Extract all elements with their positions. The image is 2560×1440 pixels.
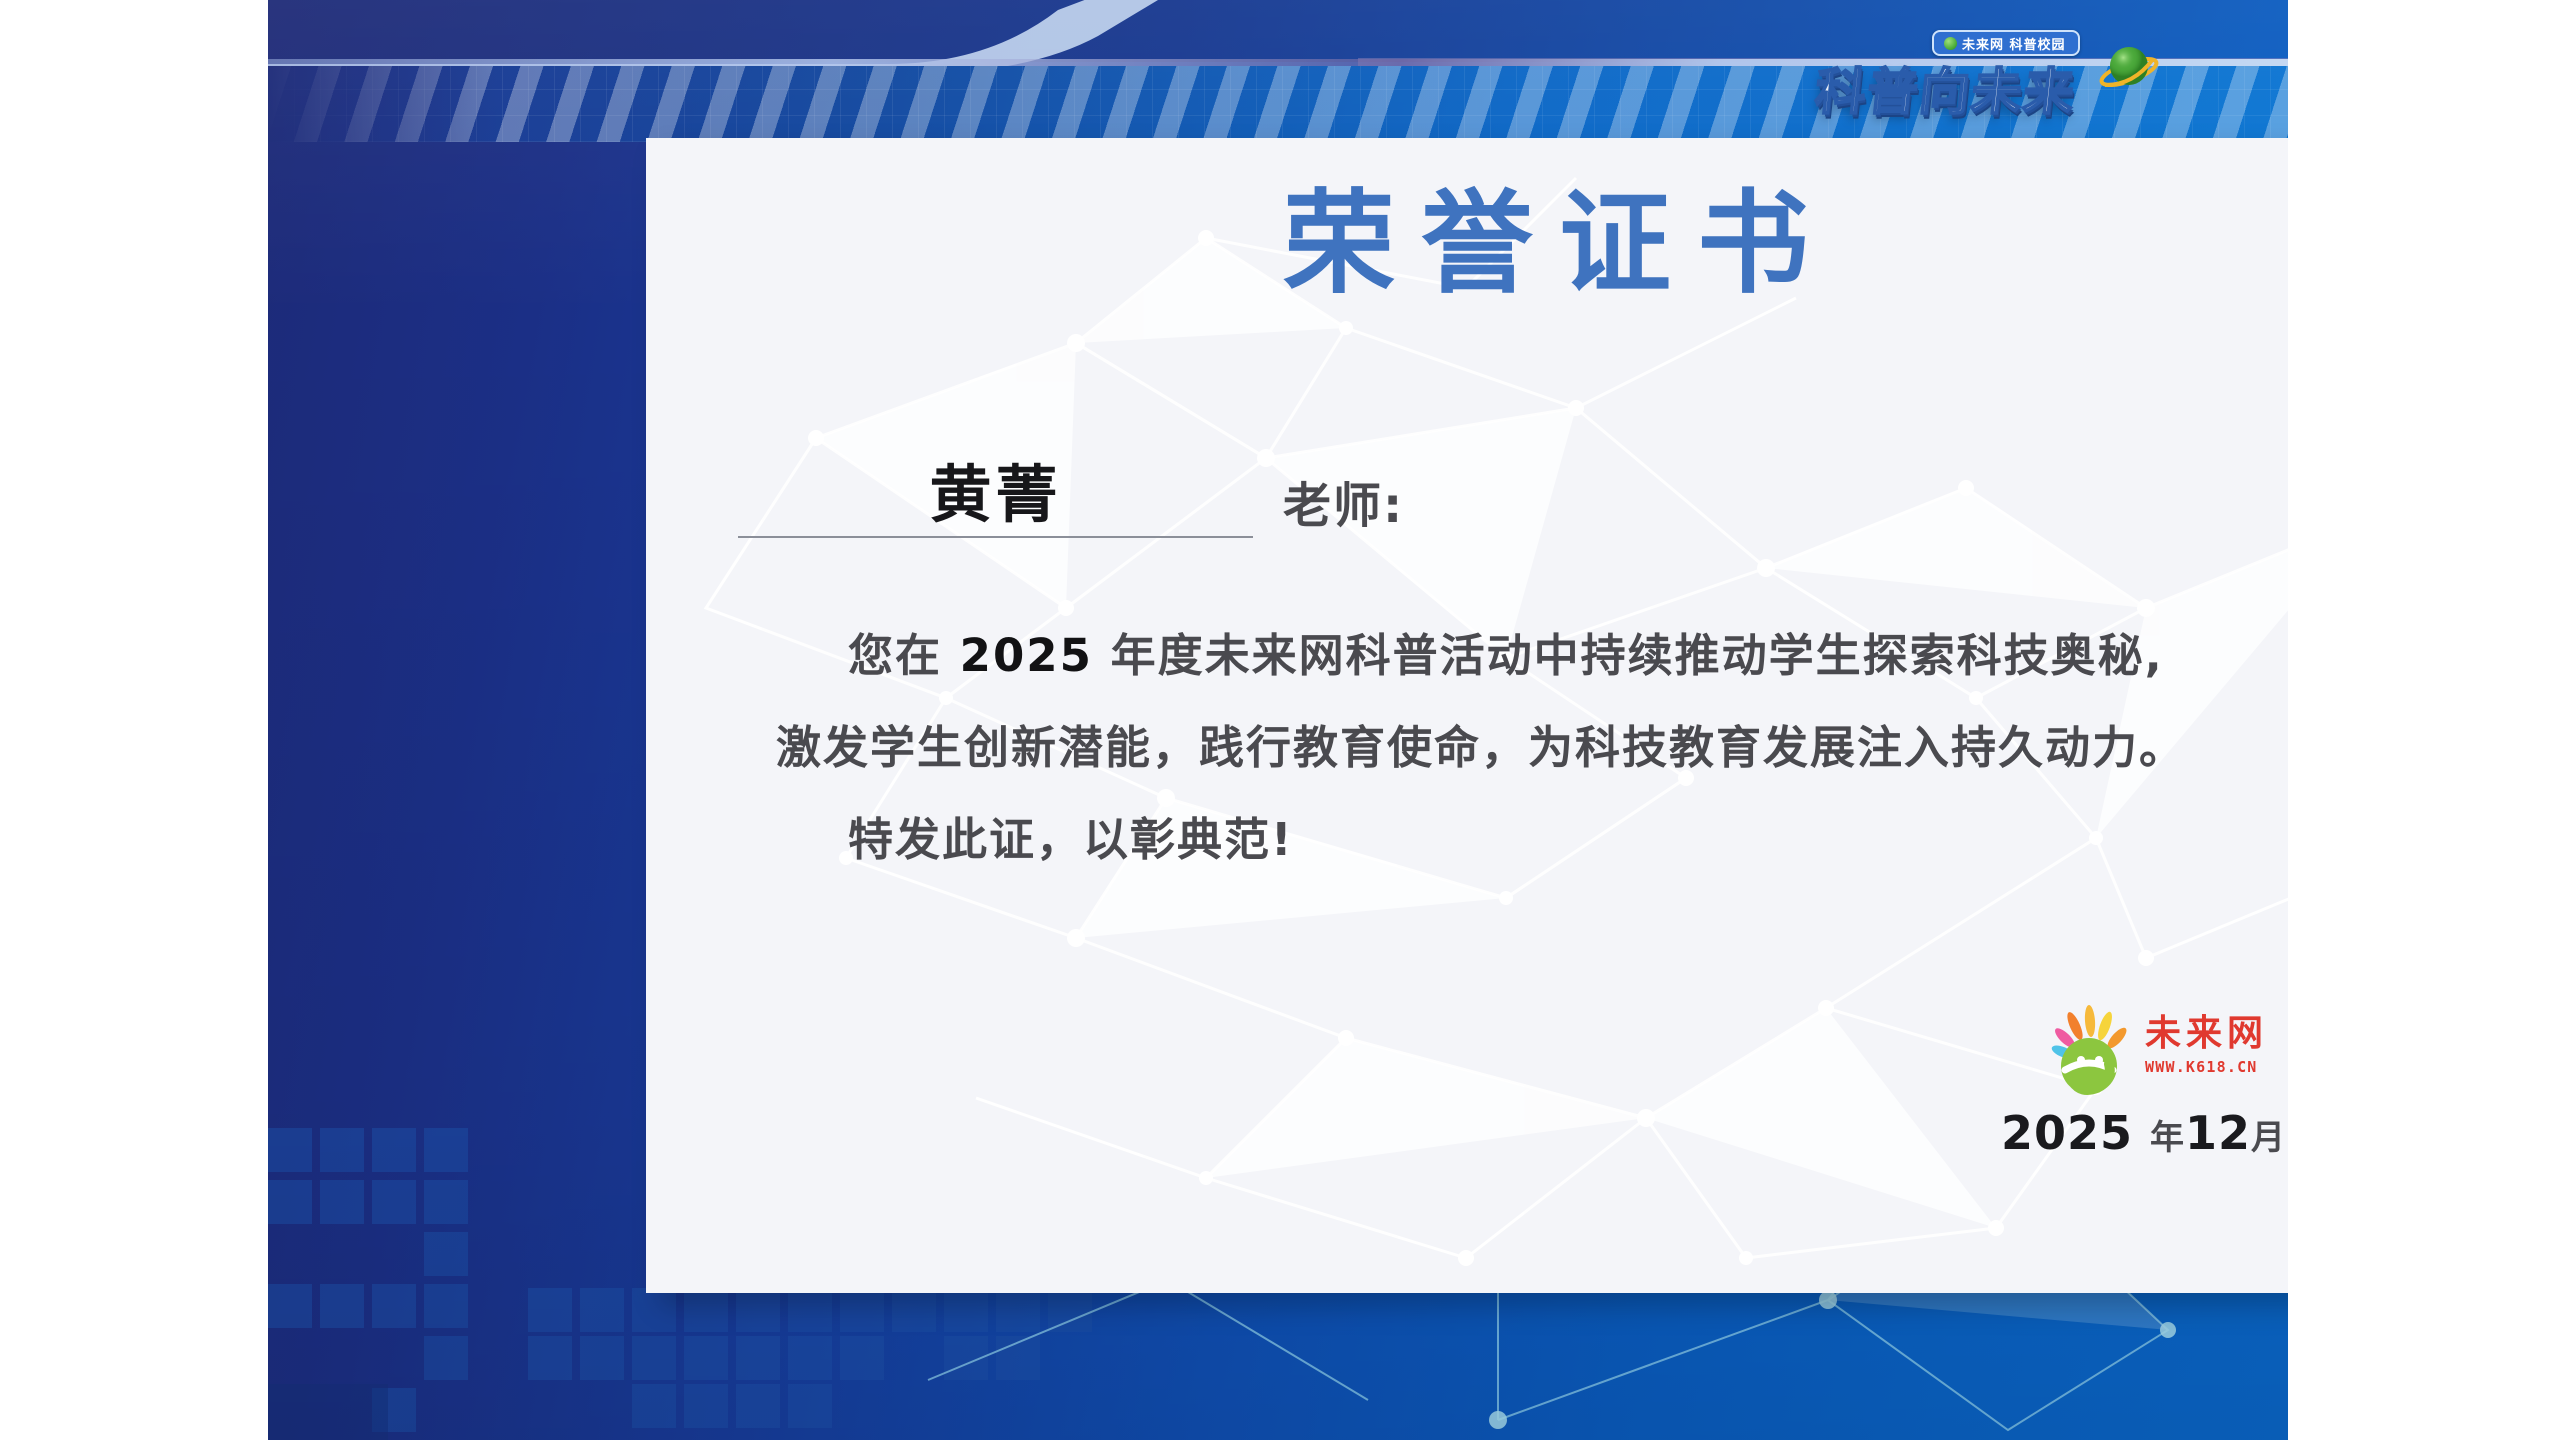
issuer-url: WWW.K618.CN <box>2145 1058 2288 1076</box>
certificate-frame: 未来网 科普校园 科普向未来 <box>268 0 2288 1440</box>
green-e-sun-icon <box>2041 1004 2137 1096</box>
body-line-2: 激发学生创新潜能，践行教育使命，为科技教育发展注入持久动力。 <box>776 702 2288 794</box>
body-line-1-suffix: 年度未来网科普活动中持续推动学生探索科技奥秘, <box>1093 629 2164 682</box>
issuer-name: 未来网 <box>2145 1014 2288 1054</box>
page-title: 荣誉证书 <box>646 186 2288 304</box>
badge-globe-icon <box>1944 37 1957 50</box>
body-line-3-text: 特发此证，以彰典范! <box>848 813 1294 866</box>
planet-svg <box>2098 38 2160 100</box>
campaign-title: 科普向未来 <box>1812 52 2080 124</box>
issue-month-unit: 月 <box>2251 1118 2286 1158</box>
stripes-left-fade <box>268 66 498 142</box>
card-content: 荣誉证书 黄菁 老师: 您在 2025 年度未来网科普活动中持续推动学生探索科技… <box>646 138 2288 1293</box>
campaign-badge-text: 未来网 科普校园 <box>1962 34 2066 53</box>
body-line-1-year: 2025 <box>960 629 1093 682</box>
body-line-3: 特发此证，以彰典范! <box>776 794 2288 886</box>
body-line-1: 您在 2025 年度未来网科普活动中持续推动学生探索科技奥秘, <box>776 610 2288 702</box>
body-line-1-prefix: 您在 <box>848 629 960 682</box>
recipient-role-label: 老师: <box>1283 466 1404 536</box>
recipient-name: 黄菁 <box>738 444 1253 534</box>
issue-year-unit: 年 <box>2150 1118 2185 1158</box>
issue-date: 2025 年12月 <box>2001 1106 2286 1160</box>
issue-month: 12 <box>2185 1106 2251 1160</box>
body-line-2-text: 激发学生创新潜能，践行教育使命，为科技教育发展注入持久动力。 <box>776 721 2186 774</box>
certificate-card: 荣誉证书 黄菁 老师: 您在 2025 年度未来网科普活动中持续推动学生探索科技… <box>646 138 2288 1293</box>
recipient-row: 黄菁 老师: <box>738 428 2238 538</box>
green-planet-icon <box>2098 38 2160 100</box>
issue-year: 2025 <box>2001 1106 2133 1160</box>
issuer-logo: 未来网 WWW.K618.CN <box>2041 1000 2288 1096</box>
certificate-body: 您在 2025 年度未来网科普活动中持续推动学生探索科技奥秘, 激发学生创新潜能… <box>776 610 2288 886</box>
certificate-page: 未来网 科普校园 科普向未来 <box>0 0 2560 1440</box>
campaign-logo: 未来网 科普校园 科普向未来 <box>1816 24 2156 140</box>
logo-mark-svg <box>2041 1004 2137 1096</box>
issuer-logo-text: 未来网 WWW.K618.CN <box>2145 1014 2288 1076</box>
